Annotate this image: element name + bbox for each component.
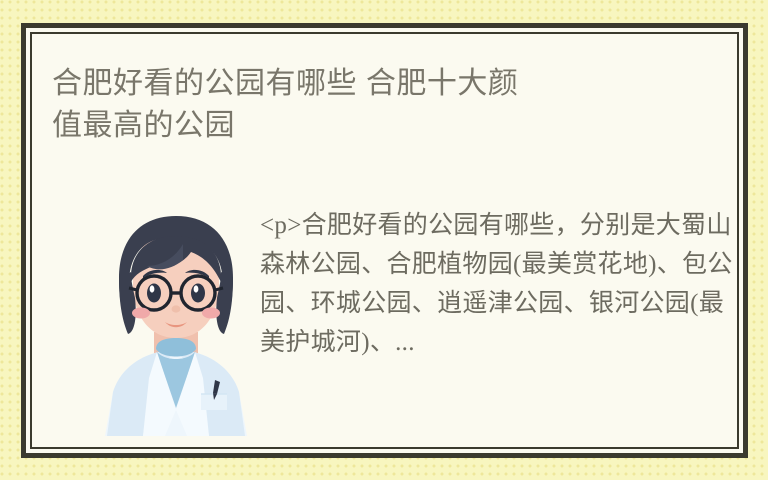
article-card-content: 合肥好看的公园有哪些 合肥十大颜 值最高的公园 xyxy=(32,34,737,447)
page-background: 合肥好看的公园有哪些 合肥十大颜 值最高的公园 xyxy=(0,0,768,480)
avatar xyxy=(95,210,257,436)
article-excerpt: <p>合肥好看的公园有哪些，分别是大蜀山森林公园、合肥植物园(最美赏花地)、包公… xyxy=(260,206,737,362)
article-card-inner-frame: 合肥好看的公园有哪些 合肥十大颜 值最高的公园 xyxy=(30,32,739,449)
page-title: 合肥好看的公园有哪些 合肥十大颜 值最高的公园 xyxy=(52,63,712,147)
article-card-frame: 合肥好看的公园有哪些 合肥十大颜 值最高的公园 xyxy=(21,23,748,458)
